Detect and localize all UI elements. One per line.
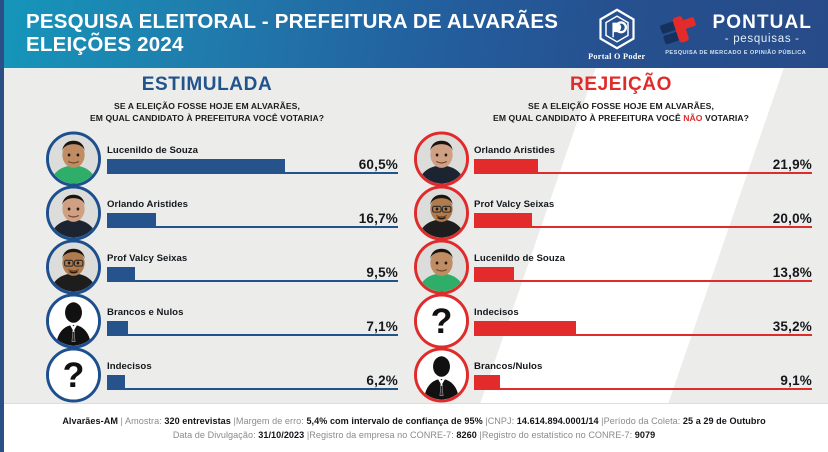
estimulada-question-line1: SE A ELEIÇÃO FOSSE HOJE EM ALVARÃES, — [114, 101, 300, 111]
bar-line: 7,1% — [107, 320, 398, 336]
footer-segment: 9079 — [635, 430, 655, 440]
result-row-body: Indecisos 35,2% — [474, 307, 828, 336]
bar-fill — [474, 321, 576, 336]
result-row: Orlando Aristides 16,7% — [0, 186, 414, 240]
bar-line: 9,5% — [107, 266, 398, 282]
percent-label: 6,2% — [366, 373, 398, 388]
footer-segment: |Registro da empresa no CONRE-7: — [304, 430, 456, 440]
candidate-name: Lucenildo de Souza — [474, 253, 812, 264]
column-estimulada: ESTIMULADA SE A ELEIÇÃO FOSSE HOJE EM AL… — [0, 68, 414, 404]
rejeicao-rows: Orlando Aristides 21,9% Prof Valcy Seixa… — [414, 132, 828, 402]
footer-segment: |Registro do estatístico no CONRE-7: — [477, 430, 635, 440]
bar-fill — [107, 267, 135, 282]
svg-text:?: ? — [431, 301, 453, 341]
percent-label: 9,5% — [366, 265, 398, 280]
portal-o-poder-logo: Portal O Poder — [588, 7, 645, 61]
bar-line: 16,7% — [107, 212, 398, 228]
left-edge-accent — [0, 0, 4, 452]
footer-segment: Alvarães-AM — [62, 416, 118, 426]
bar-track — [107, 334, 398, 336]
result-row-body: Orlando Aristides 21,9% — [474, 145, 828, 174]
pontual-name: PONTUAL — [712, 13, 812, 32]
estimulada-question: SE A ELEIÇÃO FOSSE HOJE EM ALVARÃES, EM … — [0, 101, 414, 124]
bar-line: 13,8% — [474, 266, 812, 282]
bar-track — [107, 280, 398, 282]
svg-text:?: ? — [63, 355, 85, 395]
result-row-body: Brancos/Nulos 9,1% — [474, 361, 828, 390]
percent-label: 20,0% — [773, 211, 812, 226]
silhouette-icon — [414, 348, 469, 403]
bar-fill — [107, 159, 285, 174]
bar-line: 9,1% — [474, 374, 812, 390]
header-title-group: PESQUISA ELEITORAL - PREFEITURA DE ALVAR… — [0, 11, 558, 57]
bar-fill — [474, 213, 532, 228]
percent-label: 35,2% — [773, 319, 812, 334]
bar-fill — [107, 375, 125, 390]
result-row: Orlando Aristides 21,9% — [414, 132, 828, 186]
bar-track — [107, 388, 398, 390]
page-title: PESQUISA ELEITORAL - PREFEITURA DE ALVAR… — [26, 11, 558, 34]
result-row: Lucenildo de Souza 60,5% — [0, 132, 414, 186]
candidate-photo-valcy — [414, 186, 469, 241]
result-row: Brancos e Nulos 7,1% — [0, 294, 414, 348]
footer-line-1: Alvarães-AM | Amostra: 320 entrevistas |… — [62, 416, 765, 426]
result-row: Brancos/Nulos 9,1% — [414, 348, 828, 402]
candidate-name: Indecisos — [107, 361, 398, 372]
candidate-name: Brancos e Nulos — [107, 307, 398, 318]
footer-line-2: Data de Divulgação: 31/10/2023 |Registro… — [173, 430, 655, 440]
pontual-subtitle: - pesquisas - — [725, 34, 800, 46]
bar-line: 21,9% — [474, 158, 812, 174]
footer-segment: 25 a 29 de Outubro — [683, 416, 766, 426]
estimulada-rows: Lucenildo de Souza 60,5% Orlando Aristid… — [0, 132, 414, 402]
candidate-photo-lucenildo — [46, 132, 101, 187]
bar-line: 6,2% — [107, 374, 398, 390]
logo-group: Portal O Poder PONTUAL - pesquisa — [588, 7, 828, 61]
footer-segment: 320 entrevistas — [164, 416, 230, 426]
column-rejeicao: REJEIÇÃO SE A ELEIÇÃO FOSSE HOJE EM ALVA… — [414, 68, 828, 404]
footer-segment: |Margem de erro: — [231, 416, 307, 426]
result-row: ? Indecisos 6,2% — [0, 348, 414, 402]
bar-line: 35,2% — [474, 320, 812, 336]
rejeicao-question-line2b: VOTARIA? — [703, 113, 749, 123]
candidate-name: Orlando Aristides — [107, 199, 398, 210]
footer-segment: Data de Divulgação: — [173, 430, 258, 440]
result-row: Prof Valcy Seixas 9,5% — [0, 240, 414, 294]
bar-fill — [474, 375, 500, 390]
header-banner: PESQUISA ELEITORAL - PREFEITURA DE ALVAR… — [0, 0, 828, 68]
rejeicao-header: REJEIÇÃO SE A ELEIÇÃO FOSSE HOJE EM ALVA… — [414, 68, 828, 124]
candidate-name: Prof Valcy Seixas — [107, 253, 398, 264]
candidate-name: Lucenildo de Souza — [107, 145, 398, 156]
percent-label: 7,1% — [366, 319, 398, 334]
footer-segment: |CNPJ: — [483, 416, 517, 426]
bar-fill — [474, 267, 514, 282]
candidate-name: Orlando Aristides — [474, 145, 812, 156]
results-board: ESTIMULADA SE A ELEIÇÃO FOSSE HOJE EM AL… — [0, 68, 828, 404]
poll-infographic: PESQUISA ELEITORAL - PREFEITURA DE ALVAR… — [0, 0, 828, 452]
candidate-photo-orlando — [414, 132, 469, 187]
candidate-name: Prof Valcy Seixas — [474, 199, 812, 210]
footer-segment: 8260 — [456, 430, 476, 440]
rejeicao-title: REJEIÇÃO — [414, 74, 828, 96]
footer-segment: 14.614.894.0001/14 — [517, 416, 599, 426]
footer-segment: 31/10/2023 — [258, 430, 304, 440]
estimulada-question-line2: EM QUAL CANDIDATO À PREFEITURA VOCÊ VOTA… — [90, 113, 324, 123]
candidate-name: Brancos/Nulos — [474, 361, 812, 372]
percent-label: 60,5% — [359, 157, 398, 172]
bar-line: 20,0% — [474, 212, 812, 228]
result-row-body: Prof Valcy Seixas 20,0% — [474, 199, 828, 228]
footer-segment: 5,4% com intervalo de confiança de 95% — [306, 416, 482, 426]
bar-fill — [107, 321, 128, 336]
candidate-photo-lucenildo — [414, 240, 469, 295]
rejeicao-question-nao: NÃO — [683, 113, 702, 123]
result-row: Prof Valcy Seixas 20,0% — [414, 186, 828, 240]
estimulada-title: ESTIMULADA — [0, 74, 414, 96]
rejeicao-question: SE A ELEIÇÃO FOSSE HOJE EM ALVARÃES, EM … — [414, 101, 828, 124]
footer-segment: | Amostra: — [118, 416, 164, 426]
percent-label: 16,7% — [359, 211, 398, 226]
bar-track — [474, 388, 812, 390]
bar-track — [474, 280, 812, 282]
candidate-photo-valcy — [46, 240, 101, 295]
candidate-name: Indecisos — [474, 307, 812, 318]
question-mark-icon: ? — [46, 348, 101, 403]
estimulada-header: ESTIMULADA SE A ELEIÇÃO FOSSE HOJE EM AL… — [0, 68, 414, 124]
rejeicao-question-line2a: EM QUAL CANDIDATO À PREFEITURA VOCÊ — [493, 113, 683, 123]
footer-segment: |Período da Coleta: — [599, 416, 683, 426]
candidate-photo-orlando — [46, 186, 101, 241]
silhouette-icon — [46, 294, 101, 349]
result-row: Lucenildo de Souza 13,8% — [414, 240, 828, 294]
bar-line: 60,5% — [107, 158, 398, 174]
percent-label: 13,8% — [773, 265, 812, 280]
pontual-logo: PONTUAL - pesquisas - PESQUISA DE MERCAD… — [659, 13, 812, 56]
result-row-body: Prof Valcy Seixas 9,5% — [107, 253, 414, 282]
percent-label: 21,9% — [773, 157, 812, 172]
result-row-body: Brancos e Nulos 7,1% — [107, 307, 414, 336]
hexagon-monogram-icon — [595, 7, 639, 51]
bar-fill — [107, 213, 156, 228]
result-row-body: Indecisos 6,2% — [107, 361, 414, 390]
pontual-tagline: PESQUISA DE MERCADO E OPINIÃO PÚBLICA — [665, 50, 806, 56]
result-row: ? Indecisos 35,2% — [414, 294, 828, 348]
rejeicao-question-line1: SE A ELEIÇÃO FOSSE HOJE EM ALVARÃES, — [528, 101, 714, 111]
page-subtitle: ELEIÇÕES 2024 — [26, 34, 558, 57]
footer-methodology: Alvarães-AM | Amostra: 320 entrevistas |… — [0, 403, 828, 452]
result-row-body: Orlando Aristides 16,7% — [107, 199, 414, 228]
pontual-mark-icon — [659, 13, 705, 47]
portal-o-poder-caption: Portal O Poder — [588, 52, 645, 61]
bar-fill — [474, 159, 538, 174]
question-mark-icon: ? — [414, 294, 469, 349]
result-row-body: Lucenildo de Souza 60,5% — [107, 145, 414, 174]
percent-label: 9,1% — [780, 373, 812, 388]
result-row-body: Lucenildo de Souza 13,8% — [474, 253, 828, 282]
